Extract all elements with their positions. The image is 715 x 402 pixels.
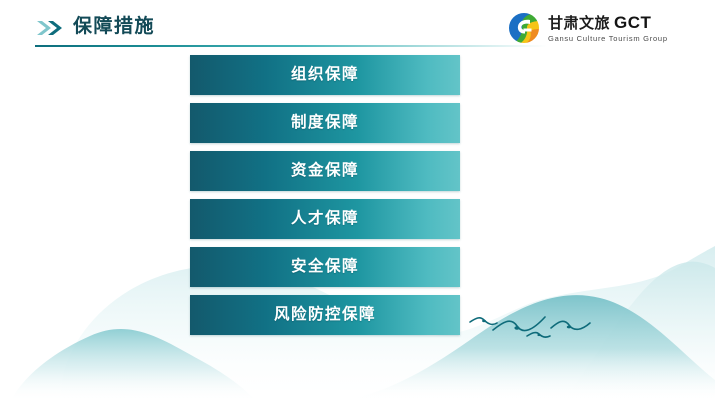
- measure-bar-list: 组织保障 制度保障 资金保障 人才保障 安全保障 风险防控保障: [190, 55, 460, 343]
- page-title: 保障措施: [73, 17, 155, 36]
- bird-body-1: [482, 320, 486, 322]
- bird-body-2: [514, 326, 519, 329]
- brand-name-line: 甘肃文旅 GCT: [548, 14, 668, 31]
- measure-bar-label: 制度保障: [291, 115, 359, 131]
- measure-bar-4[interactable]: 人才保障: [190, 199, 460, 239]
- bird-3: [527, 333, 550, 338]
- bird-body-4: [567, 326, 571, 329]
- brand-name-en: Gansu Culture Tourism Group: [548, 35, 668, 43]
- bird-body-3: [537, 334, 540, 336]
- bird-1: [470, 318, 497, 325]
- measure-bar-6[interactable]: 风险防控保障: [190, 295, 460, 335]
- brand-abbrev: GCT: [614, 14, 651, 31]
- double-chevron-right-icon: [36, 20, 64, 36]
- slide-header: 保障措施 甘肃文旅: [0, 0, 715, 56]
- measure-bar-label: 组织保障: [291, 67, 359, 83]
- gct-swirl-logo-icon: [508, 12, 540, 44]
- measure-bar-label: 人才保障: [291, 211, 359, 227]
- brand-logo: 甘肃文旅 GCT Gansu Culture Tourism Group: [508, 12, 668, 44]
- title-underline-rule: [35, 45, 547, 47]
- bird-2: [493, 317, 545, 331]
- bird-4: [551, 321, 590, 329]
- measure-bar-2[interactable]: 制度保障: [190, 103, 460, 143]
- brand-name-cn: 甘肃文旅: [548, 16, 610, 31]
- measure-bar-1[interactable]: 组织保障: [190, 55, 460, 95]
- slide-canvas: 保障措施 甘肃文旅: [0, 0, 715, 402]
- measure-bar-label: 资金保障: [291, 163, 359, 179]
- measure-bar-5[interactable]: 安全保障: [190, 247, 460, 287]
- wave-far-right-ridge: [560, 262, 715, 402]
- measure-bar-label: 风险防控保障: [274, 307, 376, 323]
- brand-logo-text: 甘肃文旅 GCT Gansu Culture Tourism Group: [548, 14, 668, 43]
- measure-bar-3[interactable]: 资金保障: [190, 151, 460, 191]
- page-title-group: 保障措施: [36, 17, 155, 36]
- measure-bar-label: 安全保障: [291, 259, 359, 275]
